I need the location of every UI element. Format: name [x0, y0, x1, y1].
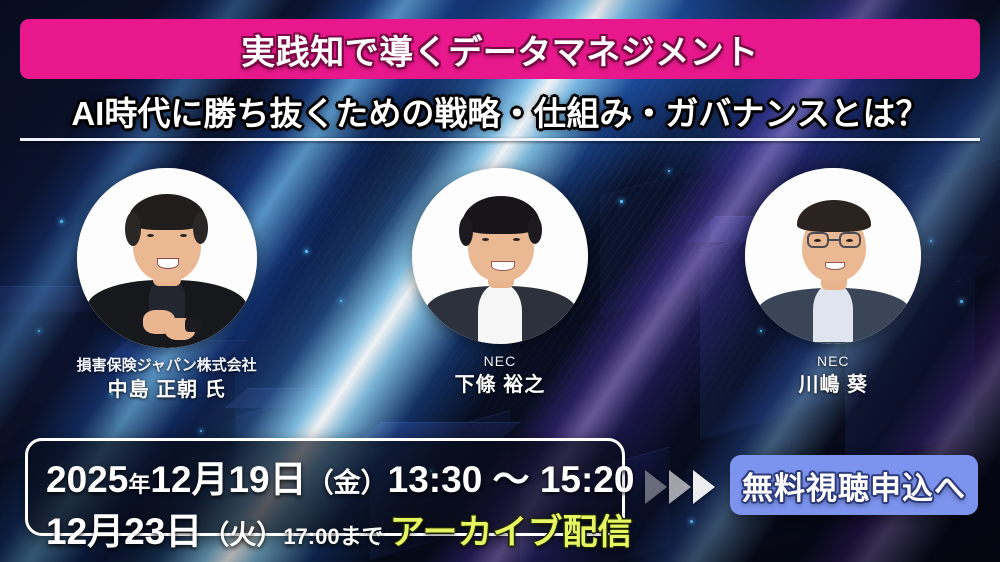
- free-registration-button[interactable]: 無料視聴申込へ: [730, 455, 978, 515]
- speaker-organization: NEC: [455, 353, 546, 371]
- play-arrow-icon: [693, 470, 715, 504]
- webinar-banner: 実践知で導くデータマネジメント AI時代に勝ち抜くための戦略・仕組み・ガバナンス…: [0, 0, 1000, 562]
- cta-label: 無料視聴申込へ: [742, 463, 966, 508]
- main-title-banner: 実践知で導くデータマネジメント: [20, 19, 980, 79]
- schedule-line-1: 2025 年 12月19日 （金） 13:30 ～ 15:20: [28, 449, 622, 503]
- speaker-organization: 損害保険ジャパン株式会社: [77, 357, 257, 376]
- speaker-name: 川嶋 葵: [798, 373, 868, 398]
- schedule-time-range: 13:30 ～ 15:20: [388, 449, 635, 503]
- schedule-line-2: 12月23日 （火） 17:00 まで アーカイブ配信: [28, 501, 622, 555]
- archive-until-label: まで: [340, 519, 384, 551]
- schedule-box: 2025 年 12月19日 （金） 13:30 ～ 15:20 12月23日 （…: [25, 438, 625, 536]
- speaker-photo-kawashima: [745, 168, 921, 344]
- speaker-card: NEC 下條 裕之: [333, 168, 666, 418]
- speaker-card: 損害保険ジャパン株式会社 中島 正朝 氏: [0, 168, 333, 418]
- archive-deadline-time: 17:00: [283, 524, 339, 550]
- archive-weekday: （火）: [202, 513, 283, 552]
- schedule-year-unit: 年: [128, 467, 150, 499]
- schedule-month-day: 12月19日: [150, 449, 306, 503]
- speaker-card: NEC 川嶋 葵: [667, 168, 1000, 418]
- page-title: 実践知で導くデータマネジメント: [241, 25, 759, 74]
- schedule-year: 2025: [46, 459, 128, 501]
- schedule-weekday: （金）: [307, 461, 388, 500]
- cta-arrow-group: [645, 470, 715, 504]
- page-subtitle: AI時代に勝ち抜くための戦略・仕組み・ガバナンスとは？: [0, 87, 1000, 135]
- speaker-name: 中島 正朝 氏: [77, 378, 257, 403]
- play-arrow-icon: [669, 470, 691, 504]
- title-divider: [20, 138, 980, 141]
- play-arrow-icon: [645, 470, 667, 504]
- archive-badge: アーカイブ配信: [390, 504, 633, 555]
- speaker-list: 損害保険ジャパン株式会社 中島 正朝 氏: [0, 168, 1000, 418]
- speaker-name: 下條 裕之: [455, 373, 546, 398]
- archive-month-day: 12月23日: [46, 501, 202, 555]
- speaker-organization: NEC: [798, 353, 868, 371]
- speaker-photo-shimojo: [412, 168, 588, 344]
- speaker-photo-nakajima: [77, 168, 257, 348]
